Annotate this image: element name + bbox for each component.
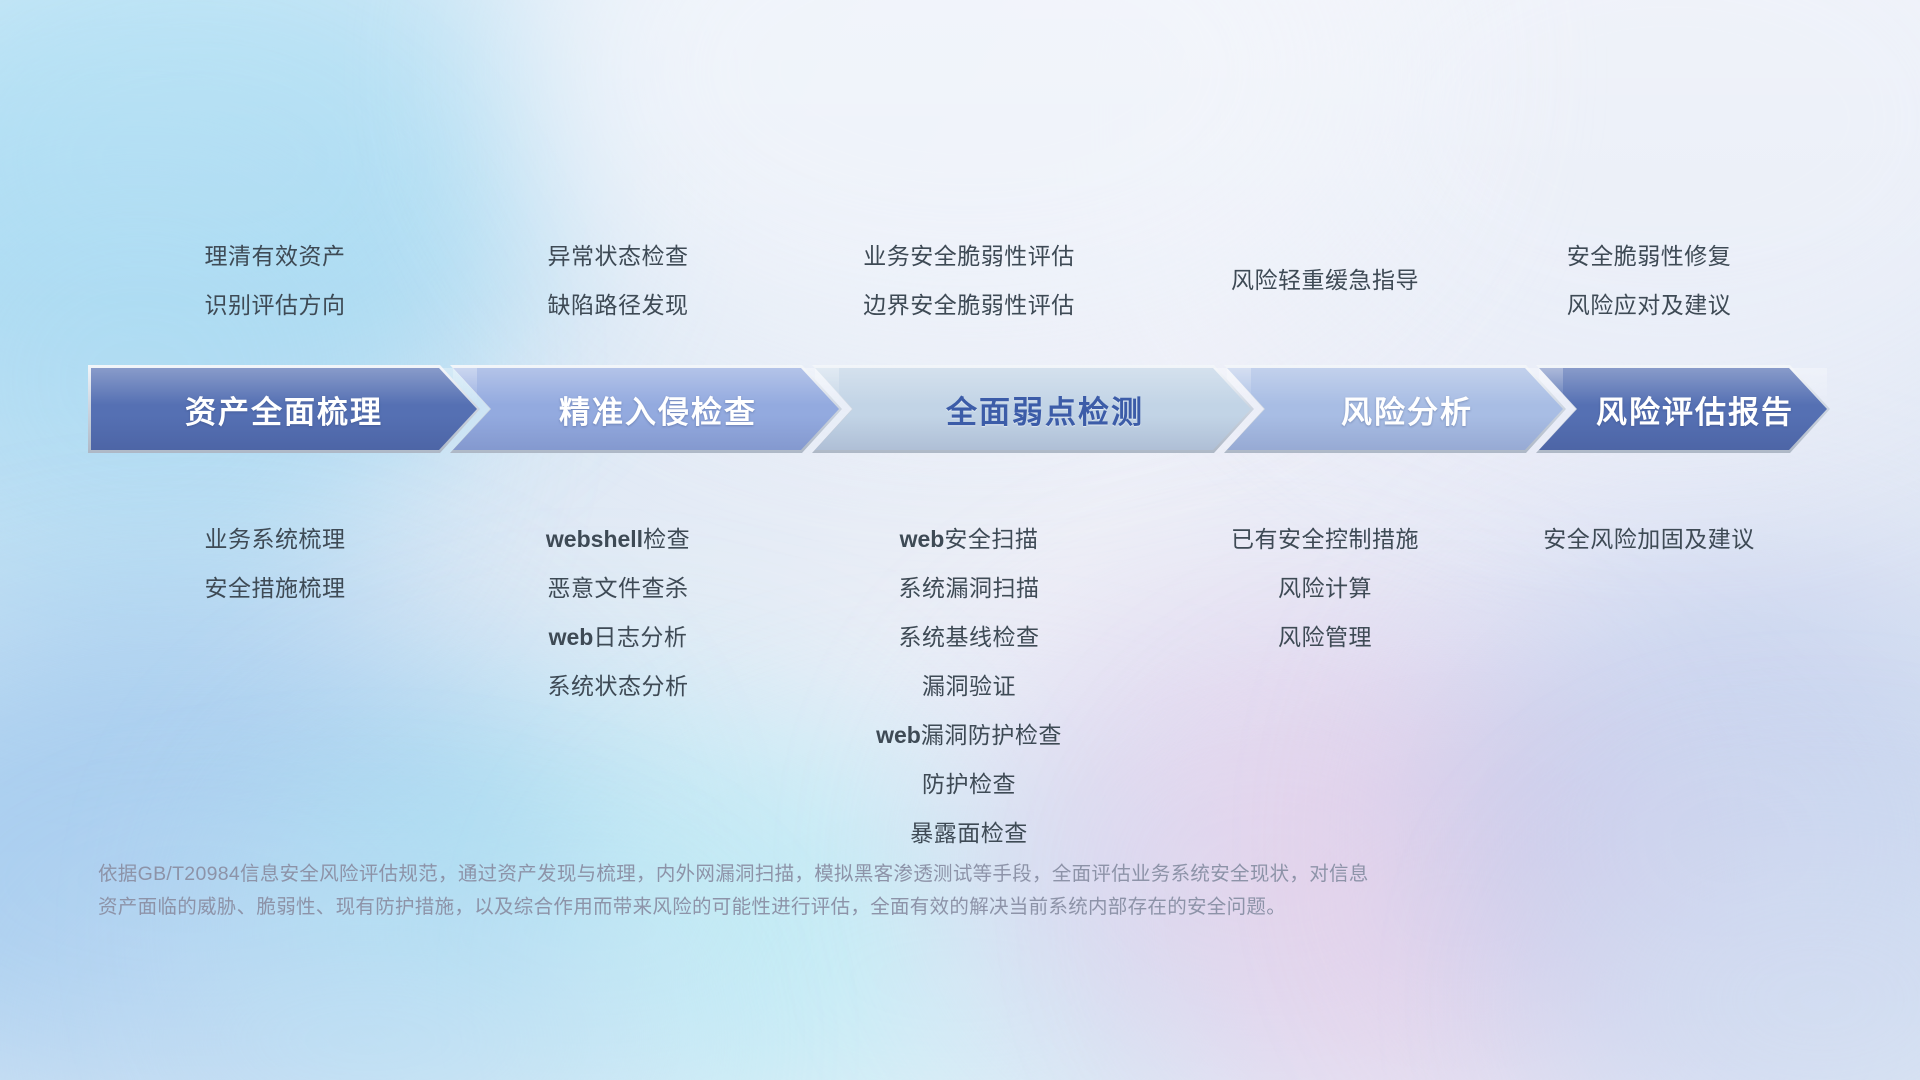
process-step-label: 风险分析: [1341, 387, 1473, 432]
stage-input-item: 安全脆弱性修复: [1473, 232, 1825, 281]
stage-output-text: 安全扫描: [944, 526, 1038, 552]
stage-output-text: 检查: [643, 526, 690, 552]
stage-output-item: 系统漏洞扫描: [759, 564, 1179, 613]
stage-output-item: 防护检查: [759, 760, 1179, 809]
stage-output-item: 漏洞验证: [759, 662, 1179, 711]
process-arrow-band: 资产全面梳理精准入侵检查全面弱点检测风险分析风险评估报告: [88, 365, 1830, 453]
process-step-label: 资产全面梳理: [185, 387, 383, 432]
stage-outputs-risk-report: 安全风险加固及建议: [1473, 515, 1825, 564]
stage-output-item: 业务系统梳理: [95, 515, 455, 564]
process-step-weakness-detection[interactable]: 全面弱点检测: [812, 365, 1254, 453]
process-step-intrusion-check[interactable]: 精准入侵检查: [450, 365, 842, 453]
stage-output-item: 已有安全控制措施: [1145, 515, 1505, 564]
process-step-risk-report[interactable]: 风险评估报告: [1536, 365, 1830, 453]
stage-inputs-asset-inventory: 理清有效资产识别评估方向: [95, 232, 455, 330]
stage-inputs-weakness-detection: 业务安全脆弱性评估边界安全脆弱性评估: [759, 232, 1179, 330]
stage-output-text: 日志分析: [593, 624, 687, 650]
stage-outputs-weakness-detection: web安全扫描系统漏洞扫描系统基线检查漏洞验证web漏洞防护检查防护检查暴露面检…: [759, 515, 1179, 858]
stage-input-item: 风险轻重缓急指导: [1145, 256, 1505, 305]
footer-line-2: 资产面临的威胁、脆弱性、现有防护措施，以及综合作用而带来风险的可能性进行评估，全…: [98, 891, 1608, 924]
process-step-risk-analysis[interactable]: 风险分析: [1224, 365, 1566, 453]
process-step-label: 全面弱点检测: [946, 387, 1144, 432]
stage-input-item: 理清有效资产: [95, 232, 455, 281]
footer-description: 依据GB/T20984信息安全风险评估规范，通过资产发现与梳理，内外网漏洞扫描，…: [98, 858, 1608, 924]
stage-outputs-intrusion-check: webshell检查恶意文件查杀web日志分析系统状态分析: [447, 515, 789, 711]
process-diagram: 理清有效资产识别评估方向业务系统梳理安全措施梳理异常状态检查缺陷路径发现webs…: [0, 0, 1920, 1080]
stage-input-item: 缺陷路径发现: [447, 281, 789, 330]
stage-output-item: 暴露面检查: [759, 809, 1179, 858]
stage-input-item: 业务安全脆弱性评估: [759, 232, 1179, 281]
process-step-asset-inventory[interactable]: 资产全面梳理: [88, 365, 480, 453]
stage-inputs-risk-analysis: 风险轻重缓急指导: [1145, 256, 1505, 305]
stage-output-item: 系统基线检查: [759, 613, 1179, 662]
stage-output-item: web日志分析: [447, 613, 789, 662]
stage-output-item: web安全扫描: [759, 515, 1179, 564]
stage-input-item: 风险应对及建议: [1473, 281, 1825, 330]
process-step-label: 精准入侵检查: [559, 387, 757, 432]
process-step-label: 风险评估报告: [1596, 387, 1794, 432]
stage-output-item: 安全风险加固及建议: [1473, 515, 1825, 564]
stage-output-item: webshell检查: [447, 515, 789, 564]
stage-output-item: 安全措施梳理: [95, 564, 455, 613]
stage-input-item: 边界安全脆弱性评估: [759, 281, 1179, 330]
stage-inputs-intrusion-check: 异常状态检查缺陷路径发现: [447, 232, 789, 330]
stage-output-text: 漏洞防护检查: [921, 722, 1062, 748]
stage-output-keyword: web: [876, 722, 921, 748]
stage-output-item: 风险计算: [1145, 564, 1505, 613]
stage-output-item: web漏洞防护检查: [759, 711, 1179, 760]
stage-output-item: 风险管理: [1145, 613, 1505, 662]
stage-input-item: 异常状态检查: [447, 232, 789, 281]
stage-input-item: 识别评估方向: [95, 281, 455, 330]
stage-output-item: 恶意文件查杀: [447, 564, 789, 613]
stage-output-keyword: web: [900, 526, 945, 552]
stage-outputs-risk-analysis: 已有安全控制措施风险计算风险管理: [1145, 515, 1505, 662]
stage-output-keyword: webshell: [546, 526, 643, 552]
stage-output-keyword: web: [549, 624, 594, 650]
stage-outputs-asset-inventory: 业务系统梳理安全措施梳理: [95, 515, 455, 613]
stage-output-item: 系统状态分析: [447, 662, 789, 711]
stage-inputs-risk-report: 安全脆弱性修复风险应对及建议: [1473, 232, 1825, 330]
footer-line-1: 依据GB/T20984信息安全风险评估规范，通过资产发现与梳理，内外网漏洞扫描，…: [98, 858, 1608, 891]
